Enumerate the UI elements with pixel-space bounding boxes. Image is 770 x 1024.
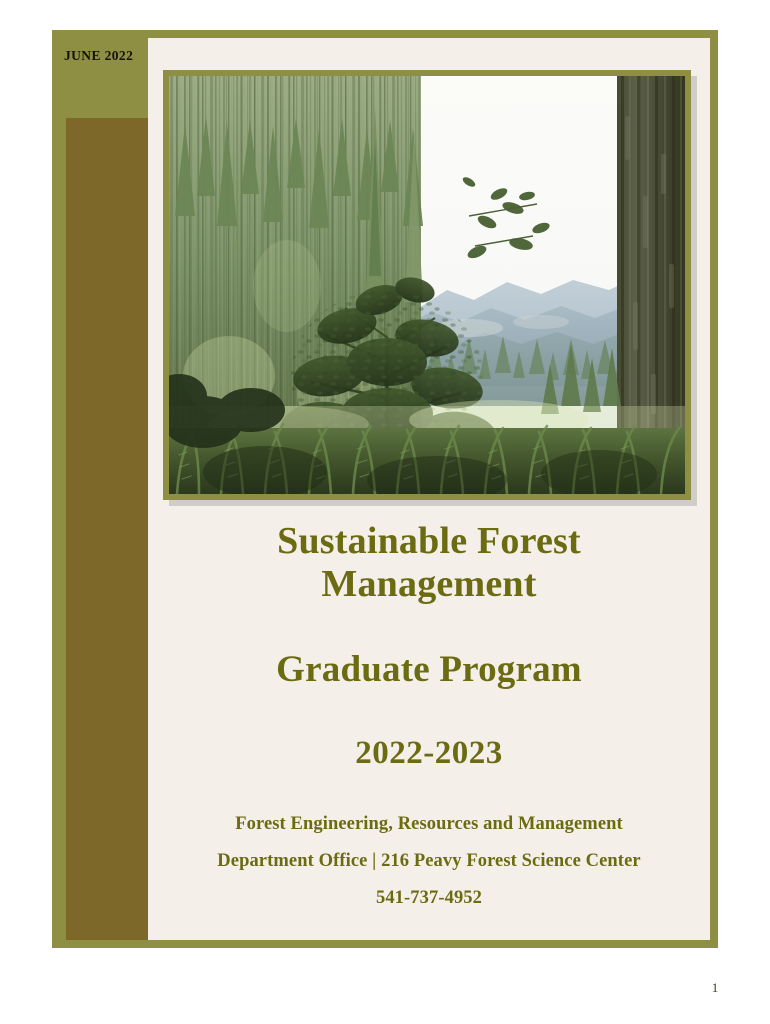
- phone-number: 541-737-4952: [148, 880, 710, 917]
- cover-title-block: Sustainable Forest Management Graduate P…: [148, 520, 710, 772]
- academic-year: 2022-2023: [148, 735, 710, 772]
- cover-photo: [163, 70, 691, 500]
- date-label: JUNE 2022: [64, 48, 133, 64]
- page-number: 1: [700, 980, 730, 996]
- office-address: Department Office | 216 Peavy Forest Sci…: [148, 843, 710, 880]
- department-name: Forest Engineering, Resources and Manage…: [148, 806, 710, 843]
- page-title: Sustainable Forest Management: [148, 520, 710, 606]
- program-subtitle: Graduate Program: [148, 648, 710, 691]
- accent-band: [66, 118, 148, 940]
- cover-photo-image: [169, 76, 685, 494]
- title-line-1: Sustainable Forest: [277, 520, 581, 562]
- contact-block: Forest Engineering, Resources and Manage…: [148, 806, 710, 917]
- title-line-2: Management: [321, 563, 536, 605]
- document-page: JUNE 2022: [0, 0, 770, 1024]
